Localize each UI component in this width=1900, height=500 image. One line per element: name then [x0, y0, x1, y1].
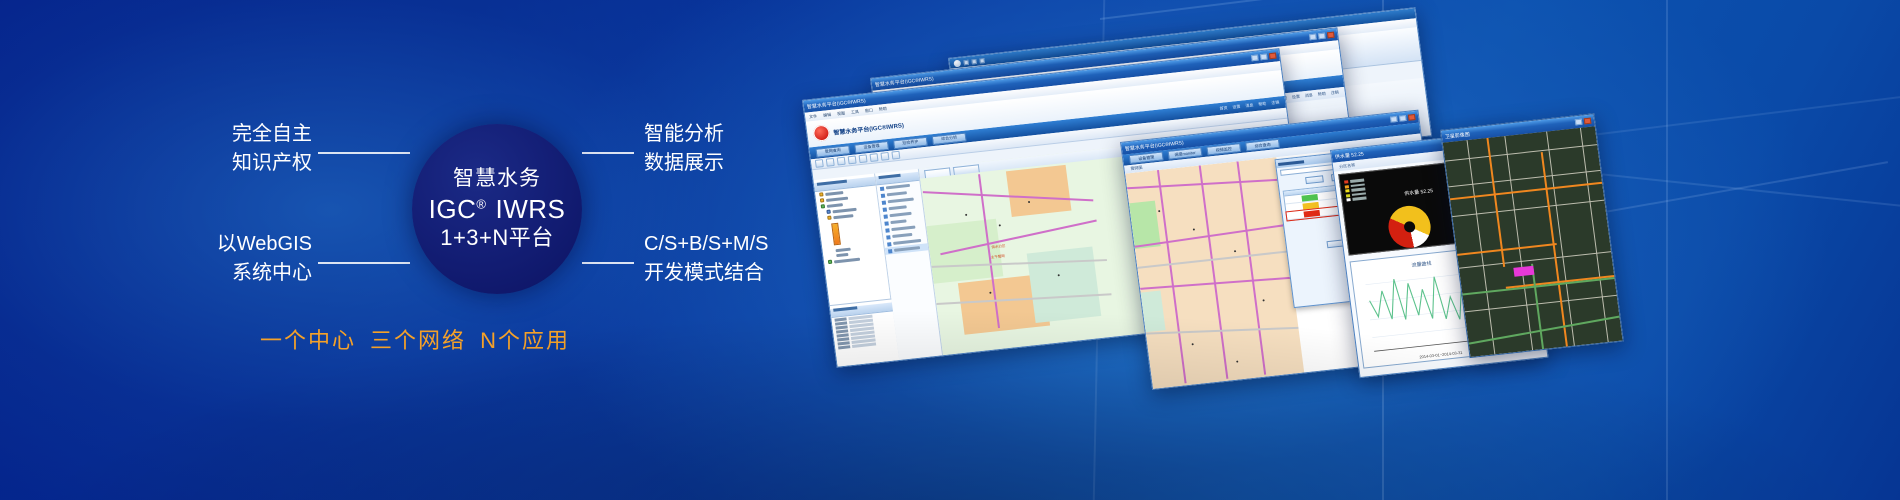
- close-icon[interactable]: [1408, 114, 1416, 121]
- window-controls-satellite[interactable]: [1575, 118, 1592, 126]
- info-graphic: 完全自主 知识产权 以WebGIS 系统中心 智能分析 数据展示 C/S+B/S…: [0, 0, 820, 500]
- nav-link-help-front[interactable]: 帮助: [1258, 101, 1267, 108]
- pipe-line: [1199, 165, 1228, 378]
- tool-pan-icon[interactable]: [815, 159, 824, 168]
- feature-label-top-right: 智能分析 数据展示: [644, 120, 724, 178]
- maximize-icon[interactable]: [1399, 115, 1407, 122]
- map-node: [1193, 228, 1195, 230]
- street-line: [1546, 131, 1576, 349]
- map-node: [999, 224, 1001, 226]
- window-controls-mid[interactable]: [1309, 32, 1335, 41]
- tool-zoom-out-icon[interactable]: [837, 157, 846, 166]
- menu-item-edit-front[interactable]: 编辑: [823, 111, 832, 118]
- registered-trademark-icon: ®: [476, 196, 486, 211]
- feature-label-bottom-right-line1: C/S+B/S+M/S: [644, 230, 769, 259]
- road-line: [1146, 327, 1304, 335]
- map-node: [1028, 201, 1030, 203]
- circle-title-en: IGC®IWRS: [429, 195, 566, 224]
- map-node: [1236, 360, 1238, 362]
- grid-line-diagonal-top: [1100, 0, 1894, 20]
- menu-item-view-front[interactable]: 视图: [837, 110, 846, 117]
- window-stats-titlebar-text: 供水量 52.25: [1334, 150, 1364, 160]
- close-icon[interactable]: [1327, 32, 1335, 39]
- tagline-part3: N个应用: [480, 328, 570, 353]
- pipe-line: [1236, 161, 1265, 374]
- map-node: [965, 214, 967, 216]
- tool-zoom-in-icon[interactable]: [826, 158, 835, 167]
- tool-identify-icon[interactable]: [870, 153, 879, 162]
- feature-label-bottom-right: C/S+B/S+M/S 开发模式结合: [644, 230, 769, 288]
- close-icon[interactable]: [1269, 53, 1277, 60]
- nav-link-settings-front[interactable]: 设置: [1232, 104, 1241, 111]
- selection-highlight: [1513, 266, 1534, 277]
- legend-color-ramp: [831, 223, 841, 246]
- feature-label-top-left-line2: 知识产权: [150, 149, 312, 178]
- connector-top-left: [318, 152, 410, 154]
- map-annotation: 供水分区: [991, 244, 1006, 250]
- circle-brand-iwrs: IWRS: [495, 194, 565, 224]
- pipe-line: [1127, 178, 1287, 188]
- feature-label-bottom-left-line2: 系统中心: [140, 259, 312, 288]
- tab-thematic-map[interactable]: [953, 164, 980, 175]
- feature-label-bottom-left-line1: 以WebGIS: [140, 230, 312, 259]
- feature-label-top-right-line2: 数据展示: [644, 149, 724, 178]
- connector-bottom-left: [318, 262, 410, 264]
- legend-entry: [1346, 196, 1366, 201]
- center-circle-badge: 智慧水务 IGC®IWRS 1+3+N平台: [412, 124, 582, 294]
- street-line: [1580, 128, 1610, 346]
- pipe-line: [1140, 276, 1300, 289]
- menu-item-file-front[interactable]: 文件: [809, 113, 818, 120]
- nav-link-message-front[interactable]: 消息: [1245, 102, 1254, 109]
- feature-label-bottom-left: 以WebGIS 系统中心: [140, 230, 312, 288]
- screenshot-stack: 文件 编辑 视图 帮助: [790, 30, 1900, 470]
- feature-label-top-left: 完全自主 知识产权: [150, 120, 312, 178]
- tagline-part1: 一个中心: [260, 328, 356, 353]
- nav-link-message-mid[interactable]: 消息: [1305, 92, 1314, 99]
- nav-link-home-front[interactable]: 首页: [1219, 105, 1228, 112]
- water-balance-pie-chart: [1386, 204, 1433, 250]
- map-node: [989, 292, 991, 294]
- pie-value-label: 供水量 52.25: [1404, 187, 1434, 197]
- connector-top-right: [582, 152, 634, 154]
- pipe-line: [1157, 170, 1186, 383]
- banner-stage: 完全自主 知识产权 以WebGIS 系统中心 智能分析 数据展示 C/S+B/S…: [0, 0, 1900, 500]
- map-node: [1158, 210, 1160, 212]
- tool-measure-icon[interactable]: [859, 154, 868, 163]
- menu-item-help-front[interactable]: 帮助: [878, 105, 887, 112]
- minimize-icon[interactable]: [1251, 54, 1259, 61]
- green-route-line: [1531, 264, 1544, 353]
- nav-link-help-mid[interactable]: 帮助: [1317, 91, 1326, 98]
- app-orb-icon[interactable]: [953, 59, 961, 67]
- minimize-icon[interactable]: [1390, 116, 1398, 123]
- circle-title-cn: 智慧水务: [453, 167, 541, 191]
- status-chip-normal: [1301, 193, 1318, 201]
- stats-filter-label[interactable]: 分区名称: [1339, 162, 1356, 170]
- nav-link-settings-mid[interactable]: 设置: [1292, 94, 1301, 101]
- map-node: [1058, 274, 1060, 276]
- feature-label-top-right-line1: 智能分析: [644, 120, 724, 149]
- window-satellite-titlebar-text: 卫星影像图: [1444, 130, 1470, 140]
- company-logo-icon: [812, 124, 830, 142]
- nav-link-logout-front[interactable]: 注销: [1271, 99, 1280, 106]
- tagline: 一个中心三个网络N个应用: [0, 323, 830, 355]
- tool-select-icon[interactable]: [848, 156, 857, 165]
- map-parcel: [1027, 246, 1102, 323]
- map-canvas-analysis[interactable]: [1125, 157, 1304, 389]
- menu-item-window-front[interactable]: 窗口: [865, 107, 874, 114]
- map-annotation: 主干管网: [991, 254, 1006, 260]
- highway-line: [1486, 138, 1505, 267]
- minimize-icon[interactable]: [1575, 119, 1583, 126]
- pie-legend: [1344, 178, 1367, 201]
- map-node: [1234, 250, 1236, 252]
- map-node: [1262, 299, 1264, 301]
- brand-name-front: 智慧水务平台(IGC®IWRS): [833, 120, 905, 137]
- status-chip-alarm: [1303, 209, 1320, 217]
- maximize-icon[interactable]: [1260, 54, 1268, 61]
- window-controls-front[interactable]: [1251, 53, 1277, 62]
- save-icon[interactable]: [963, 59, 969, 64]
- highway-line: [1457, 243, 1557, 256]
- nav-link-logout-mid[interactable]: 注销: [1330, 89, 1339, 96]
- maximize-icon[interactable]: [1318, 33, 1326, 40]
- redo-icon[interactable]: [979, 58, 985, 63]
- satellite-map-canvas[interactable]: [1443, 126, 1623, 357]
- attribute-detail-panel[interactable]: [830, 298, 900, 366]
- road-line: [1137, 250, 1296, 269]
- tool-print-icon[interactable]: [880, 152, 889, 161]
- feature-label-top-left-line1: 完全自主: [150, 120, 312, 149]
- circle-platform-label: 1+3+N平台: [440, 226, 554, 251]
- close-icon[interactable]: [1584, 118, 1592, 125]
- connector-bottom-right: [582, 262, 634, 264]
- tagline-part2: 三个网络: [370, 328, 466, 353]
- circle-brand-igc: IGC: [429, 194, 477, 224]
- tool-fullextent-icon[interactable]: [891, 151, 900, 160]
- query-button[interactable]: [1305, 175, 1324, 184]
- highway-line: [1541, 152, 1569, 351]
- menu-item-tools-front[interactable]: 工具: [851, 108, 860, 115]
- map-parcel: [1006, 165, 1072, 217]
- map-node: [1192, 343, 1194, 345]
- window-satellite[interactable]: 卫星影像图: [1440, 113, 1624, 358]
- tab-pipeline-map[interactable]: [924, 167, 951, 178]
- minimize-icon[interactable]: [1309, 34, 1317, 41]
- satellite-map-container[interactable]: [1443, 126, 1623, 357]
- window-controls-analysis[interactable]: [1390, 114, 1416, 123]
- undo-icon[interactable]: [971, 58, 977, 63]
- status-chip-warning: [1302, 201, 1319, 209]
- map-parcel: [1141, 290, 1166, 332]
- feature-label-bottom-right-line2: 开发模式结合: [644, 259, 769, 288]
